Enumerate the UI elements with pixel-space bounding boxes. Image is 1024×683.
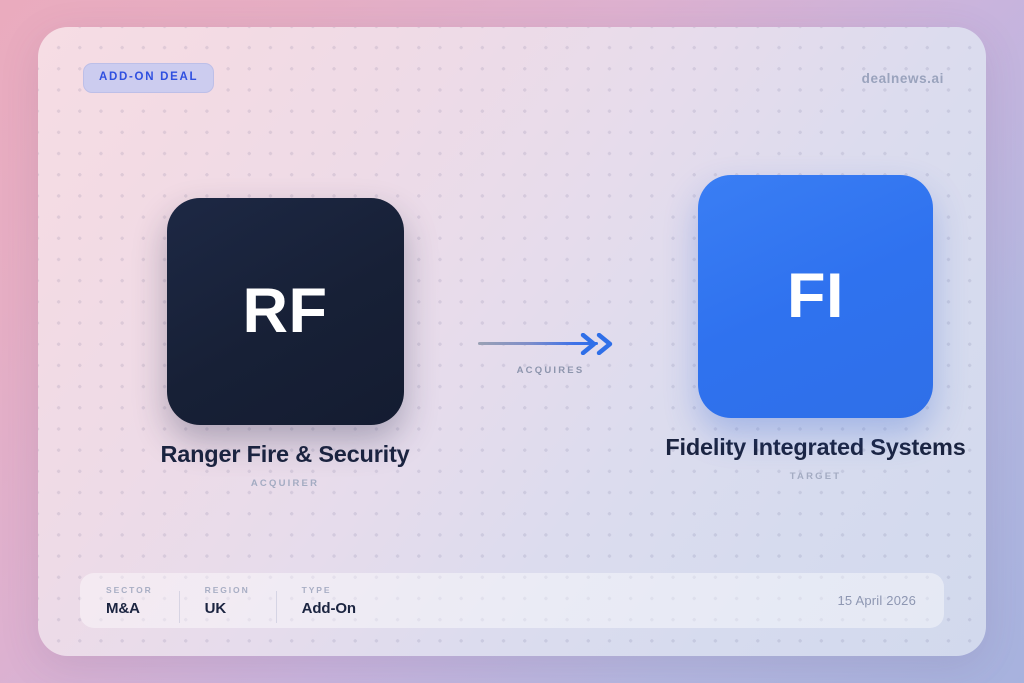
meta-field-region: REGION UK [179,585,276,617]
target-block: FI Fidelity Integrated Systems TARGET [658,175,973,482]
arrow-graphic [478,333,623,355]
meta-key-region: REGION [205,585,250,595]
meta-value-sector: M&A [106,600,153,617]
deal-type-badge: ADD-ON DEAL [83,63,214,93]
target-monogram: FI [787,265,844,328]
target-role-label: TARGET [658,471,973,482]
deal-date: 15 April 2026 [838,593,945,608]
deal-type-badge-label: ADD-ON DEAL [99,72,198,84]
acquirer-role-label: ACQUIRER [130,478,440,489]
meta-field-type: TYPE Add-On [276,585,382,617]
brand-watermark: dealnews.ai [862,71,944,86]
acquires-arrow: ACQUIRES [478,333,623,376]
acquirer-logo-tile: RF [167,198,404,425]
acquires-label: ACQUIRES [478,365,623,376]
meta-value-region: UK [205,600,250,617]
meta-field-sector: SECTOR M&A [80,585,179,617]
target-name: Fidelity Integrated Systems [658,433,973,462]
acquirer-name: Ranger Fire & Security [130,440,440,469]
deal-meta-bar: SECTOR M&A REGION UK TYPE Add-On 15 Apri… [80,573,944,628]
target-logo-tile: FI [698,175,933,418]
double-chevron-right-icon [579,333,623,355]
meta-key-type: TYPE [302,585,356,595]
meta-key-sector: SECTOR [106,585,153,595]
acquirer-block: RF Ranger Fire & Security ACQUIRER [130,198,440,489]
deal-card: ADD-ON DEAL dealnews.ai RF Ranger Fire &… [38,27,986,656]
deal-card-canvas: ADD-ON DEAL dealnews.ai RF Ranger Fire &… [0,0,1024,683]
acquirer-monogram: RF [243,280,328,343]
meta-value-type: Add-On [302,600,356,617]
